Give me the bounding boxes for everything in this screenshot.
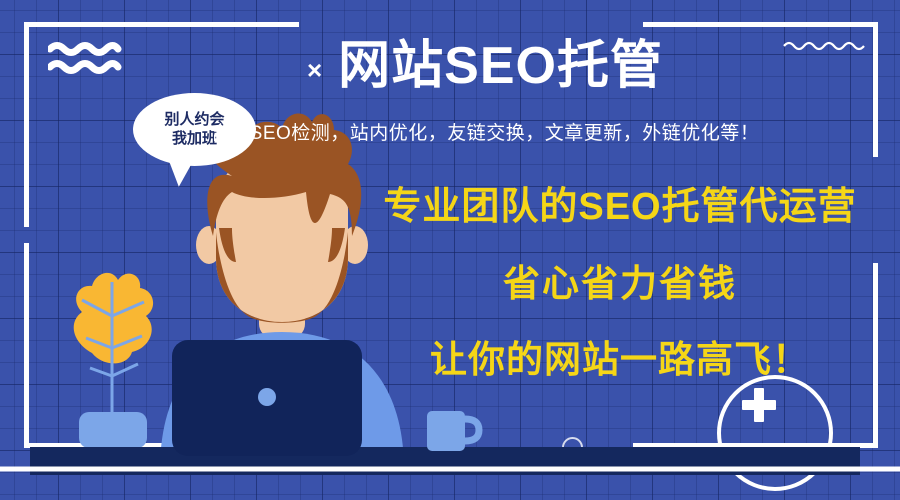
x-mark-icon: × (307, 57, 322, 83)
coffee-mug-icon (427, 411, 479, 451)
seo-hosting-banner: 别人约会 我加班 × 网站SEO托管 含：SEO检测，站内优化，友链交换，文章更… (0, 0, 900, 500)
promo-line-2: 省心省力省钱 (360, 265, 880, 302)
circle-outline-icon (562, 437, 583, 458)
title-row: × 网站SEO托管 (0, 40, 900, 92)
page-title: 网站SEO托管 (338, 40, 663, 92)
plus-icon (742, 388, 776, 422)
promo-line-1: 专业团队的SEO托管代运营 (360, 188, 880, 226)
page-subtitle: 含：SEO检测，站内优化，友链交换，文章更新，外链优化等！ (0, 118, 900, 145)
frame-corner-bottom-left (24, 243, 229, 448)
promo-line-3: 让你的网站一路高飞！ (360, 341, 880, 378)
promo-lines: 专业团队的SEO托管代运营 省心省力省钱 让你的网站一路高飞！ (360, 188, 880, 378)
